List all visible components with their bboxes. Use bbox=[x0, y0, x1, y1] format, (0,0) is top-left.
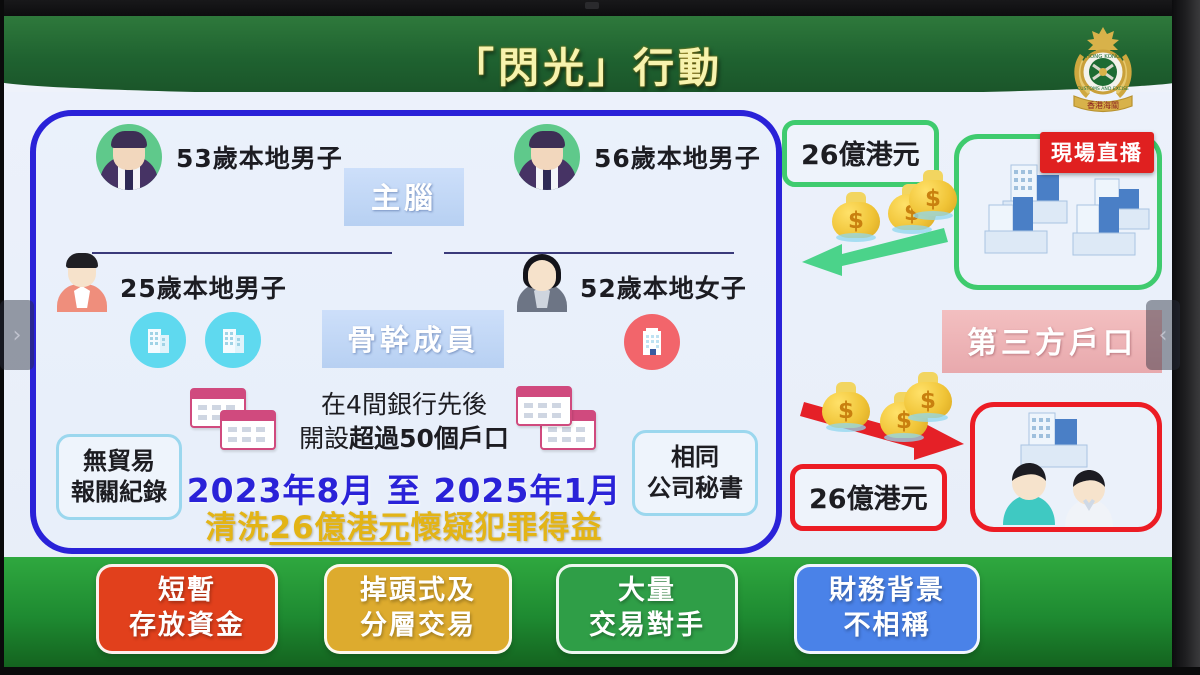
tv-screen: 「閃光」行動 HONG KONG CUSTOMS AND EXCISE bbox=[0, 0, 1200, 675]
indicator-tag-4: 財務背景 不相稱 bbox=[794, 564, 980, 654]
svg-text:CUSTOMS AND EXCISE: CUSTOMS AND EXCISE bbox=[1077, 86, 1129, 92]
young-man-avatar-icon bbox=[54, 252, 110, 312]
note-box-no-trade-record: 無貿易 報關紀錄 bbox=[56, 434, 182, 520]
accounts-line-2: 開設超過50個戶口 bbox=[276, 422, 532, 456]
company-building-icon-1 bbox=[130, 312, 186, 368]
note-1-line-1: 無貿易 bbox=[71, 446, 167, 477]
accounts-line-1-post: 間銀行先後 bbox=[362, 390, 487, 419]
amount-box-bottom: 26億港元 bbox=[790, 464, 947, 531]
laundered-post: 懷疑犯罪得益 bbox=[411, 510, 603, 546]
company-building-icon-2 bbox=[205, 312, 261, 368]
role-chip-mastermind: 主腦 bbox=[344, 168, 464, 226]
person-label-2: 56歲本地男子 bbox=[594, 139, 761, 175]
person-row-1: 53歲本地男子 bbox=[96, 124, 343, 190]
live-broadcast-badge: 現場直播 bbox=[1040, 132, 1154, 173]
indicator-tag-1-text: 短暫 存放資金 bbox=[129, 574, 245, 643]
slide-title: 「閃光」行動 bbox=[4, 34, 1172, 94]
presentation-slide: 「閃光」行動 HONG KONG CUSTOMS AND EXCISE bbox=[4, 14, 1172, 667]
note-1-line-2: 報關紀錄 bbox=[71, 477, 167, 508]
indicator-tag-4-text: 財務背景 不相稱 bbox=[829, 574, 945, 643]
third-party-holders-frame bbox=[970, 402, 1162, 532]
indicator-tag-3: 大量 交易對手 bbox=[556, 564, 738, 654]
monitor-bezel-bottom bbox=[0, 667, 1200, 675]
accounts-line-1: 在4間銀行先後 bbox=[294, 388, 514, 422]
money-bag-icon-4: $ bbox=[822, 382, 870, 428]
laundered-amount: 26億港元 bbox=[269, 510, 410, 546]
hk-customs-emblem-icon: HONG KONG CUSTOMS AND EXCISE 香港海關 bbox=[1060, 20, 1146, 120]
slide-body: 53歲本地男子 56歲本地男子 主腦 bbox=[4, 92, 1172, 667]
person-label-3: 25歲本地男子 bbox=[120, 269, 287, 305]
indicator-tag-1: 短暫 存放資金 bbox=[96, 564, 278, 654]
indicator-tag-2: 掉頭式及 分層交易 bbox=[324, 564, 512, 654]
chevron-right-icon: › bbox=[13, 323, 22, 348]
prev-slide-control[interactable]: › bbox=[0, 300, 34, 370]
chevron-left-icon: ‹ bbox=[1159, 323, 1168, 348]
accounts-line-1-pre: 在 bbox=[321, 390, 346, 419]
money-bag-icon-6: $ bbox=[904, 372, 952, 418]
third-party-account-banner: 第三方戶口 bbox=[942, 310, 1162, 373]
note-2-line-1: 相同 bbox=[647, 442, 743, 473]
note-box-same-secretary: 相同 公司秘書 bbox=[632, 430, 758, 516]
person-row-3: 25歲本地男子 bbox=[54, 252, 287, 312]
person-label-1: 53歲本地男子 bbox=[176, 139, 343, 175]
money-bag-icon-1: $ bbox=[832, 192, 880, 238]
role-chip-core-member: 骨幹成員 bbox=[322, 310, 504, 368]
accounts-bank-count: 4 bbox=[346, 390, 362, 419]
laundered-text: 清洗26億港元懷疑犯罪得益 bbox=[174, 502, 634, 547]
person-row-2: 56歲本地男子 bbox=[514, 124, 761, 190]
indicator-tag-3-text: 大量 交易對手 bbox=[589, 574, 705, 643]
businessman-avatar-icon bbox=[514, 124, 580, 190]
note-2-line-2: 公司秘書 bbox=[647, 473, 743, 504]
accounts-line-2-pre: 開設 bbox=[299, 424, 349, 453]
company-building-icon-3 bbox=[624, 314, 680, 370]
third-party-people-icon bbox=[975, 407, 1157, 527]
businessman-avatar-icon bbox=[96, 124, 162, 190]
svg-text:香港海關: 香港海關 bbox=[1087, 100, 1119, 110]
monitor-bezel-top bbox=[0, 0, 1200, 16]
laundered-pre: 清洗 bbox=[205, 510, 269, 546]
indicator-tag-2-text: 掉頭式及 分層交易 bbox=[360, 574, 476, 643]
person-row-4: 52歲本地女子 bbox=[514, 252, 747, 312]
money-bag-icon-3: $ bbox=[909, 170, 957, 216]
bank-account-card-icon-4 bbox=[516, 386, 572, 426]
person-label-4: 52歲本地女子 bbox=[580, 269, 747, 305]
next-slide-control[interactable]: ‹ bbox=[1146, 300, 1180, 370]
bank-account-card-icon-2 bbox=[220, 410, 276, 450]
accounts-count-strong: 超過50個戶口 bbox=[349, 424, 509, 453]
woman-avatar-icon bbox=[514, 252, 570, 312]
building-cluster-top bbox=[983, 157, 1159, 281]
svg-text:HONG KONG: HONG KONG bbox=[1086, 54, 1121, 60]
